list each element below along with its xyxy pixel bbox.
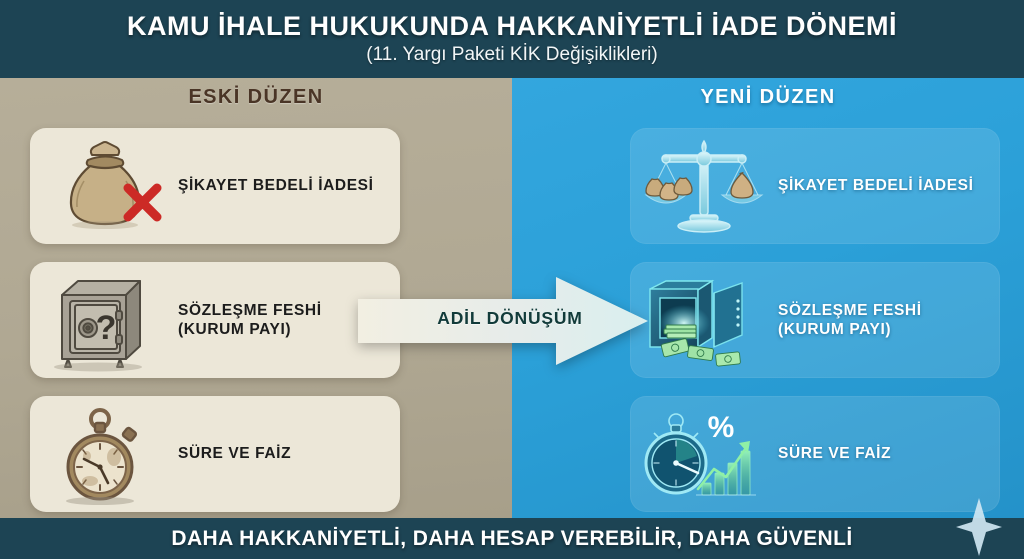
locked-safe-question-mark-icon: ? (40, 267, 170, 373)
new-card-label-2-line1: SÖZLEŞME FESHİ (778, 301, 922, 320)
page-subtitle: (11. Yargı Paketi KİK Değişiklikleri) (366, 44, 657, 66)
old-card-label-2: SÖZLEŞME FESHİ (KURUM PAYI) (178, 301, 322, 340)
new-card-sure-ve-faiz[interactable]: % SÜRE VE FAİZ (630, 396, 1000, 512)
page-title: KAMU İHALE HUKUKUNDA HAKKANİYETLİ İADE D… (127, 12, 897, 40)
new-card-sozlesme-feshi[interactable]: SÖZLEŞME FESHİ (KURUM PAYI) (630, 262, 1000, 378)
svg-text:%: % (708, 411, 735, 444)
new-card-label-2: SÖZLEŞME FESHİ (KURUM PAYI) (778, 301, 922, 340)
header-bar: KAMU İHALE HUKUKUNDA HAKKANİYETLİ İADE D… (0, 0, 1024, 78)
new-card-label-1: ŞİKAYET BEDELİ İADESİ (778, 176, 973, 195)
panel-old-heading: ESKİ DÜZEN (0, 86, 512, 109)
right-arrow-icon (358, 277, 648, 365)
old-card-sure-ve-faiz[interactable]: SÜRE VE FAİZ (30, 396, 400, 512)
old-card-sozlesme-feshi[interactable]: ? SÖZLEŞME FESHİ (KURUM PAYI) (30, 262, 400, 378)
old-card-stack: ŞİKAYET BEDELİ İADESİ (30, 128, 400, 512)
svg-text:?: ? (96, 309, 117, 347)
new-card-sikayet-bedeli-iadesi[interactable]: ŞİKAYET BEDELİ İADESİ (630, 128, 1000, 244)
old-card-label-2-line1: SÖZLEŞME FESHİ (178, 301, 322, 320)
old-card-sikayet-bedeli-iadesi[interactable]: ŞİKAYET BEDELİ İADESİ (30, 128, 400, 244)
new-card-stack: ŞİKAYET BEDELİ İADESİ (630, 128, 1000, 512)
infographic-root: KAMU İHALE HUKUKUNDA HAKKANİYETLİ İADE D… (0, 0, 1024, 559)
stopwatch-percent-growth-chart-icon: % (640, 401, 770, 507)
old-stopwatch-icon (40, 401, 170, 507)
money-bag-with-red-x-icon (40, 133, 170, 239)
footer-bar: DAHA HAKKANİYETLİ, DAHA HESAP VEREBİLİR,… (0, 518, 1024, 559)
old-card-label-2-line2: (KURUM PAYI) (178, 320, 322, 339)
old-card-label-3: SÜRE VE FAİZ (178, 444, 291, 463)
balance-scales-money-bags-icon (640, 133, 770, 239)
open-safe-cash-icon (640, 267, 770, 373)
footer-tagline: DAHA HAKKANİYETLİ, DAHA HESAP VEREBİLİR,… (171, 527, 852, 551)
panel-new-heading: YENİ DÜZEN (512, 86, 1024, 109)
old-card-label-1: ŞİKAYET BEDELİ İADESİ (178, 176, 373, 195)
new-card-label-2-line2: (KURUM PAYI) (778, 320, 922, 339)
new-card-label-3: SÜRE VE FAİZ (778, 444, 891, 463)
adil-donusum-arrow: ADİL DÖNÜŞÜM (358, 277, 648, 365)
